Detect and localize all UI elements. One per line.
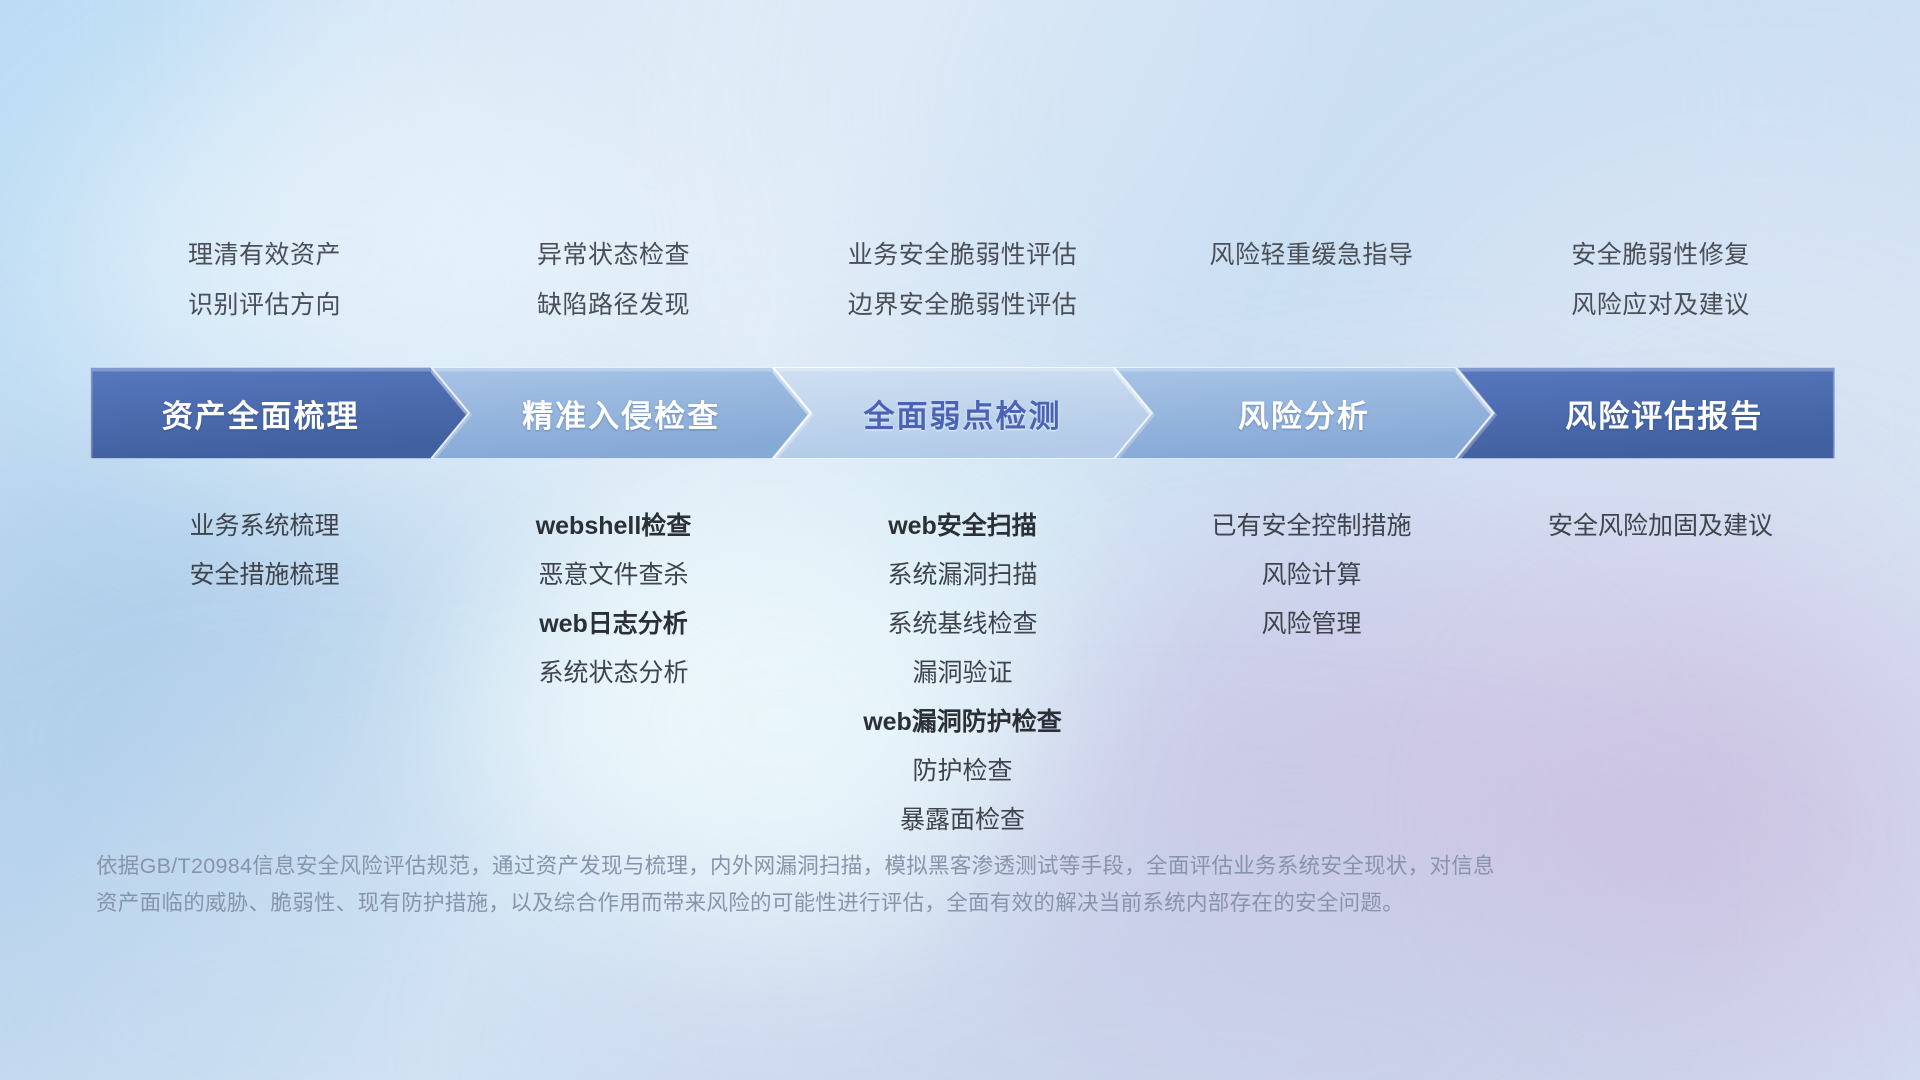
top-label-row: 理清有效资产识别评估方向异常状态检查缺陷路径发现业务安全脆弱性评估边界安全脆弱性… bbox=[90, 230, 1835, 330]
stage-title: 风险分析 bbox=[1238, 391, 1370, 436]
top-label: 缺陷路径发现 bbox=[439, 280, 788, 330]
list-item: 风险计算 bbox=[1137, 551, 1486, 600]
top-label-group-asset-inventory: 理清有效资产识别评估方向 bbox=[90, 230, 439, 330]
top-label: 边界安全脆弱性评估 bbox=[788, 280, 1137, 330]
stage-arrow-assessment-report[interactable]: 风险评估报告 bbox=[1456, 367, 1835, 459]
top-label: 安全脆弱性修复 bbox=[1486, 230, 1835, 280]
top-label: 异常状态检查 bbox=[439, 230, 788, 280]
bottom-list-assessment-report: 安全风险加固及建议 bbox=[1486, 502, 1835, 845]
top-label: 理清有效资产 bbox=[90, 230, 439, 280]
list-item: 防护检查 bbox=[788, 747, 1137, 796]
top-label-group-assessment-report: 安全脆弱性修复风险应对及建议 bbox=[1486, 230, 1835, 330]
stage-title: 资产全面梳理 bbox=[162, 391, 360, 436]
footer-line-1: 依据GB/T20984信息安全风险评估规范，通过资产发现与梳理，内外网漏洞扫描，… bbox=[96, 848, 1656, 885]
list-item: 已有安全控制措施 bbox=[1137, 502, 1486, 551]
stage-arrow-asset-inventory[interactable]: 资产全面梳理 bbox=[90, 367, 469, 459]
stage-arrow-intrusion-check[interactable]: 精准入侵检查 bbox=[431, 367, 810, 459]
bottom-list-asset-inventory: 业务系统梳理安全措施梳理 bbox=[90, 502, 439, 845]
top-label-group-risk-analysis: 风险轻重缓急指导 bbox=[1137, 230, 1486, 330]
list-item: 系统基线检查 bbox=[788, 600, 1137, 649]
top-label: 风险轻重缓急指导 bbox=[1137, 230, 1486, 280]
list-item: web日志分析 bbox=[439, 600, 788, 649]
list-item: 安全措施梳理 bbox=[90, 551, 439, 600]
footer-description: 依据GB/T20984信息安全风险评估规范，通过资产发现与梳理，内外网漏洞扫描，… bbox=[96, 848, 1656, 922]
list-item: 风险管理 bbox=[1137, 600, 1486, 649]
list-item: 恶意文件查杀 bbox=[439, 551, 788, 600]
bottom-list-weakness-detection: web安全扫描系统漏洞扫描系统基线检查漏洞验证web漏洞防护检查防护检查暴露面检… bbox=[788, 502, 1137, 845]
stage-title: 风险评估报告 bbox=[1565, 391, 1763, 436]
list-item: webshell检查 bbox=[439, 502, 788, 551]
stage-arrow-risk-analysis[interactable]: 风险分析 bbox=[1114, 367, 1493, 459]
stage-title: 精准入侵检查 bbox=[522, 391, 720, 436]
footer-line-2: 资产面临的威胁、脆弱性、现有防护措施，以及综合作用而带来风险的可能性进行评估，全… bbox=[96, 885, 1656, 922]
top-label-group-intrusion-check: 异常状态检查缺陷路径发现 bbox=[439, 230, 788, 330]
list-item: 漏洞验证 bbox=[788, 649, 1137, 698]
list-item: 系统漏洞扫描 bbox=[788, 551, 1137, 600]
list-item: 系统状态分析 bbox=[439, 649, 788, 698]
list-item: web安全扫描 bbox=[788, 502, 1137, 551]
bottom-list-risk-analysis: 已有安全控制措施风险计算风险管理 bbox=[1137, 502, 1486, 845]
process-diagram: 理清有效资产识别评估方向异常状态检查缺陷路径发现业务安全脆弱性评估边界安全脆弱性… bbox=[0, 0, 1920, 1080]
bottom-list-intrusion-check: webshell检查恶意文件查杀web日志分析系统状态分析 bbox=[439, 502, 788, 845]
list-item: 暴露面检查 bbox=[788, 796, 1137, 845]
top-label: 业务安全脆弱性评估 bbox=[788, 230, 1137, 280]
list-item: 业务系统梳理 bbox=[90, 502, 439, 551]
list-item: 安全风险加固及建议 bbox=[1486, 502, 1835, 551]
bottom-list-row: 业务系统梳理安全措施梳理webshell检查恶意文件查杀web日志分析系统状态分… bbox=[90, 502, 1835, 845]
top-label: 风险应对及建议 bbox=[1486, 280, 1835, 330]
stage-arrow-weakness-detection[interactable]: 全面弱点检测 bbox=[773, 367, 1152, 459]
stage-arrow-banner: 资产全面梳理精准入侵检查全面弱点检测风险分析风险评估报告 bbox=[90, 367, 1835, 459]
list-item: web漏洞防护检查 bbox=[788, 698, 1137, 747]
stage-title: 全面弱点检测 bbox=[863, 391, 1061, 436]
top-label: 识别评估方向 bbox=[90, 280, 439, 330]
top-label-group-weakness-detection: 业务安全脆弱性评估边界安全脆弱性评估 bbox=[788, 230, 1137, 330]
